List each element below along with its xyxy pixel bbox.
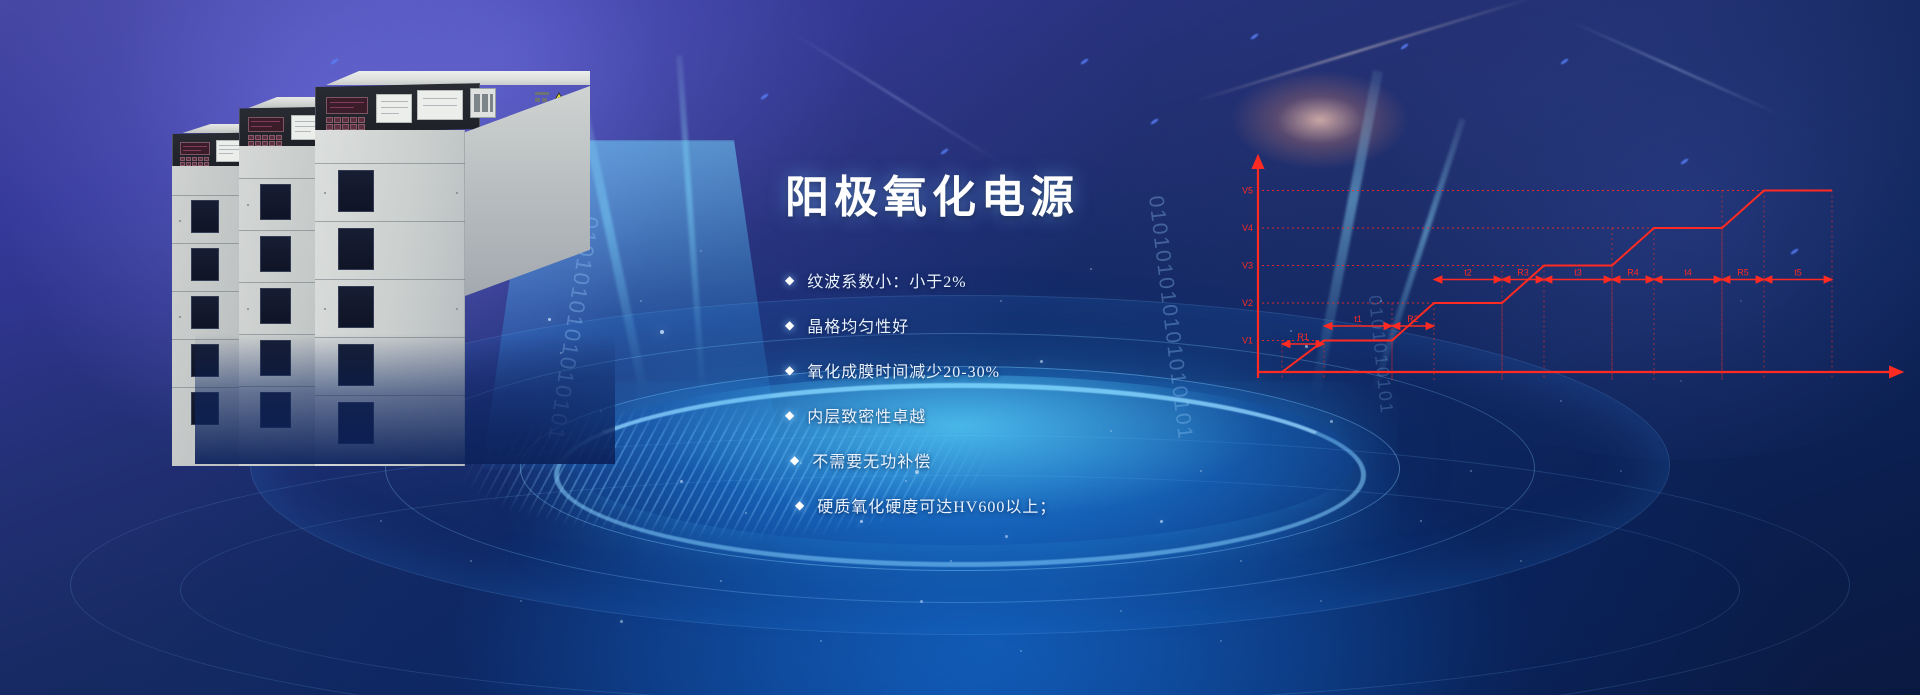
diamond-bullet-icon: ◆ — [795, 499, 805, 511]
particle — [680, 480, 683, 483]
list-item-label: 纹波系数小：小于2% — [807, 268, 966, 292]
diamond-bullet-icon: ◆ — [790, 454, 800, 466]
particle — [1620, 470, 1622, 472]
y-tick-label: V3 — [1242, 261, 1253, 271]
particle — [820, 640, 822, 642]
dimension-label: R4 — [1627, 268, 1639, 278]
particle — [1420, 520, 1422, 522]
particle — [620, 620, 623, 623]
dimension-label: t1 — [1354, 314, 1362, 324]
list-item-label: 硬质氧化硬度可达HV600以上； — [817, 493, 1056, 517]
list-item: ◆ 不需要无功补偿 — [790, 449, 1305, 471]
chart-plot: V1V2V3V4V5R1t1R2t2R3t3R4t4R5t5 — [1242, 156, 1902, 380]
list-item: ◆ 内层致密性卓越 — [785, 404, 1305, 426]
light-fleck — [1250, 33, 1259, 41]
light-streak — [1195, 0, 1540, 102]
particle — [1330, 420, 1333, 423]
particle — [470, 560, 472, 562]
y-tick-label: V1 — [1242, 336, 1253, 346]
particle — [920, 600, 923, 603]
power-supply-cabinets — [205, 100, 595, 460]
particle — [520, 600, 522, 602]
voltage-ramp-curve — [1264, 191, 1832, 373]
y-tick-label: V5 — [1242, 186, 1253, 196]
copy-block: 阳极氧化电源 ◆ 纹波系数小：小于2% ◆ 晶格均匀性好 ◆ 氧化成膜时间减少2… — [785, 176, 1305, 539]
diamond-bullet-icon: ◆ — [785, 319, 795, 331]
feature-list: ◆ 纹波系数小：小于2% ◆ 晶格均匀性好 ◆ 氧化成膜时间减少20-30% ◆… — [785, 269, 1305, 516]
list-item-label: 内层致密性卓越 — [807, 403, 926, 427]
particle — [720, 580, 722, 582]
list-item: ◆ 氧化成膜时间减少20-30% — [785, 359, 1305, 381]
list-item: ◆ 纹波系数小：小于2% — [785, 269, 1305, 291]
particle — [380, 520, 382, 522]
list-item: ◆ 硬质氧化硬度可达HV600以上； — [795, 494, 1305, 516]
light-fleck — [330, 58, 339, 66]
diamond-bullet-icon: ◆ — [785, 274, 795, 286]
dimension-label: R1 — [1297, 332, 1309, 342]
product-banner: 0101010101010101 010101010101010101 0101… — [0, 0, 1920, 695]
light-fleck — [1080, 58, 1089, 66]
light-streak — [789, 30, 1002, 164]
diamond-bullet-icon: ◆ — [785, 364, 795, 376]
dimension-label: t2 — [1464, 268, 1472, 278]
particle — [1220, 640, 1222, 642]
light-fleck — [1150, 118, 1159, 126]
diamond-bullet-icon: ◆ — [785, 409, 795, 421]
particle — [1520, 560, 1522, 562]
list-item-label: 不需要无功补偿 — [812, 448, 931, 472]
list-item-label: 氧化成膜时间减少20-30% — [807, 358, 1000, 382]
dimension-label: t5 — [1794, 268, 1802, 278]
dimension-label: R5 — [1737, 268, 1749, 278]
light-fleck — [1560, 58, 1569, 66]
list-item-label: 晶格均匀性好 — [807, 313, 909, 337]
chart-svg: V1V2V3V4V5R1t1R2t2R3t3R4t4R5t5 — [1240, 150, 1910, 410]
list-item: ◆ 晶格均匀性好 — [785, 314, 1305, 336]
particle — [1470, 470, 1472, 472]
light-fleck — [760, 93, 769, 101]
particle — [1020, 650, 1022, 652]
particle — [745, 512, 747, 514]
dimension-label: R2 — [1407, 314, 1419, 324]
y-tick-label: V4 — [1242, 223, 1253, 233]
particle — [1240, 560, 1242, 562]
cabinet-base-fade — [195, 334, 615, 464]
light-fleck — [1400, 43, 1409, 51]
particle — [950, 560, 952, 562]
dimension-label: t4 — [1684, 268, 1692, 278]
light-fleck — [940, 148, 949, 156]
voltage-ramp-chart: V1V2V3V4V5R1t1R2t2R3t3R4t4R5t5 — [1240, 150, 1910, 410]
dimension-label: R3 — [1517, 268, 1529, 278]
particle — [1320, 600, 1322, 602]
light-streak — [1569, 20, 1780, 115]
dimension-label: t3 — [1574, 268, 1582, 278]
particle — [1120, 610, 1122, 612]
y-tick-label: V2 — [1242, 298, 1253, 308]
page-title: 阳极氧化电源 — [785, 176, 1305, 220]
